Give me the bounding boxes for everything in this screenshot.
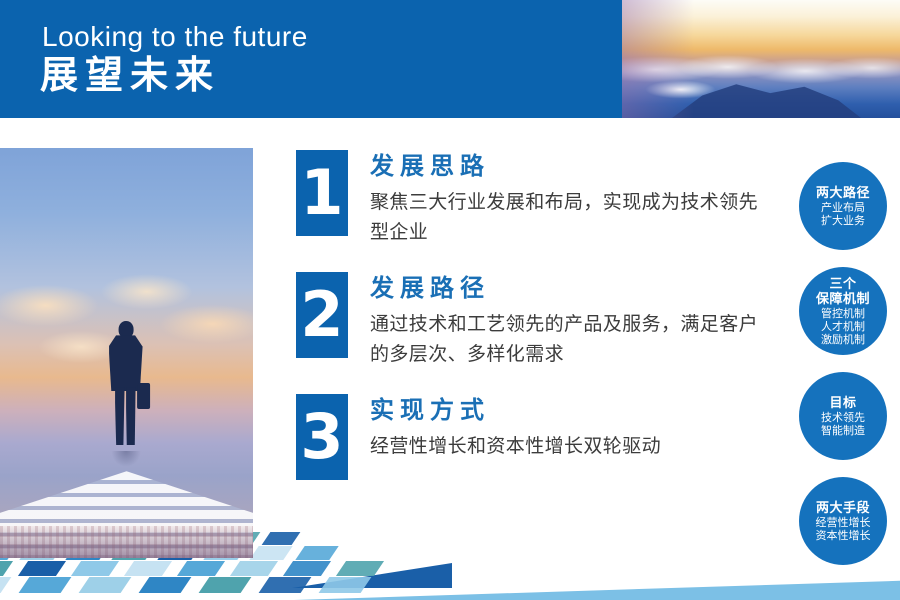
decor-tile [295,546,338,560]
slide-root: Looking to the future 展望未来 1 [0,0,900,600]
decor-tile [18,561,66,576]
figure-leg-right [126,387,136,445]
badge-subtitle: 管控机制人才机制激励机制 [821,308,865,347]
item-text-block: 发展路径 通过技术和工艺领先的产品及服务，满足客户的多层次、多样化需求 [370,272,766,370]
badge-subtitle: 经营性增长资本性增长 [816,517,871,543]
item-body: 通过技术和工艺领先的产品及服务，满足客户的多层次、多样化需求 [370,310,766,370]
decor-tile [259,577,312,593]
decor-tile [283,561,331,576]
decor-tile [79,577,132,593]
decor-tile [139,577,192,593]
decor-tile [336,561,384,576]
header-title-chinese: 展望未来 [40,52,220,100]
header-band: Looking to the future 展望未来 [0,0,622,118]
item-title: 发展思路 [370,152,766,182]
status-badge: 三个保障机制 管控机制人才机制激励机制 [799,267,887,355]
decor-tile [262,532,301,545]
decor-tile [19,577,72,593]
decor-tile [177,561,225,576]
badge-title: 三个保障机制 [816,276,870,306]
item-text-block: 发展思路 聚焦三大行业发展和布局，实现成为技术领先型企业 [370,150,766,248]
decor-tile [0,577,11,593]
businessman-climbing-stairs-photo [0,148,253,558]
item-text-block: 实现方式 经营性增长和资本性增长双轮驱动 [370,394,661,462]
status-badge: 两大路径 产业布局扩大业务 [799,162,887,250]
decor-tile [0,561,13,576]
decor-tile [319,577,372,593]
badge-subtitle: 技术领先智能制造 [821,412,865,438]
sunset-above-clouds-photo [622,0,900,118]
cityscape-reflection [0,526,253,558]
header-title-english: Looking to the future [42,20,308,54]
item-title: 实现方式 [370,396,661,426]
photo-left-tint [622,0,694,118]
badge-title: 两大路径 [816,185,870,200]
briefcase-icon [137,383,150,409]
list-item: 3 实现方式 经营性增长和资本性增长双轮驱动 [296,394,766,480]
item-number-badge: 2 [296,272,348,358]
businessman-silhouette [103,321,149,451]
status-badge: 两大手段 经营性增长资本性增长 [799,477,887,565]
badge-title: 两大手段 [816,500,870,515]
list-item: 1 发展思路 聚焦三大行业发展和布局，实现成为技术领先型企业 [296,150,766,248]
item-body: 经营性增长和资本性增长双轮驱动 [370,432,661,462]
list-item: 2 发展路径 通过技术和工艺领先的产品及服务，满足客户的多层次、多样化需求 [296,272,766,370]
item-title: 发展路径 [370,274,766,304]
badge-column: 两大路径 产业布局扩大业务 三个保障机制 管控机制人才机制激励机制 目标 技术领… [799,162,891,582]
status-badge: 目标 技术领先智能制造 [799,372,887,460]
numbered-items-list: 1 发展思路 聚焦三大行业发展和布局，实现成为技术领先型企业 2 发展路径 通过… [296,150,766,480]
decor-tile [124,561,172,576]
figure-leg-left [115,387,125,445]
item-body: 聚焦三大行业发展和布局，实现成为技术领先型企业 [370,188,766,248]
decor-tile [71,561,119,576]
decor-tile [249,546,292,560]
item-number-badge: 3 [296,394,348,480]
decor-tile [199,577,252,593]
badge-title: 目标 [829,395,856,410]
decor-tile [230,561,278,576]
item-number-badge: 1 [296,150,348,236]
figure-shadow [111,451,141,467]
badge-subtitle: 产业布局扩大业务 [821,202,865,228]
